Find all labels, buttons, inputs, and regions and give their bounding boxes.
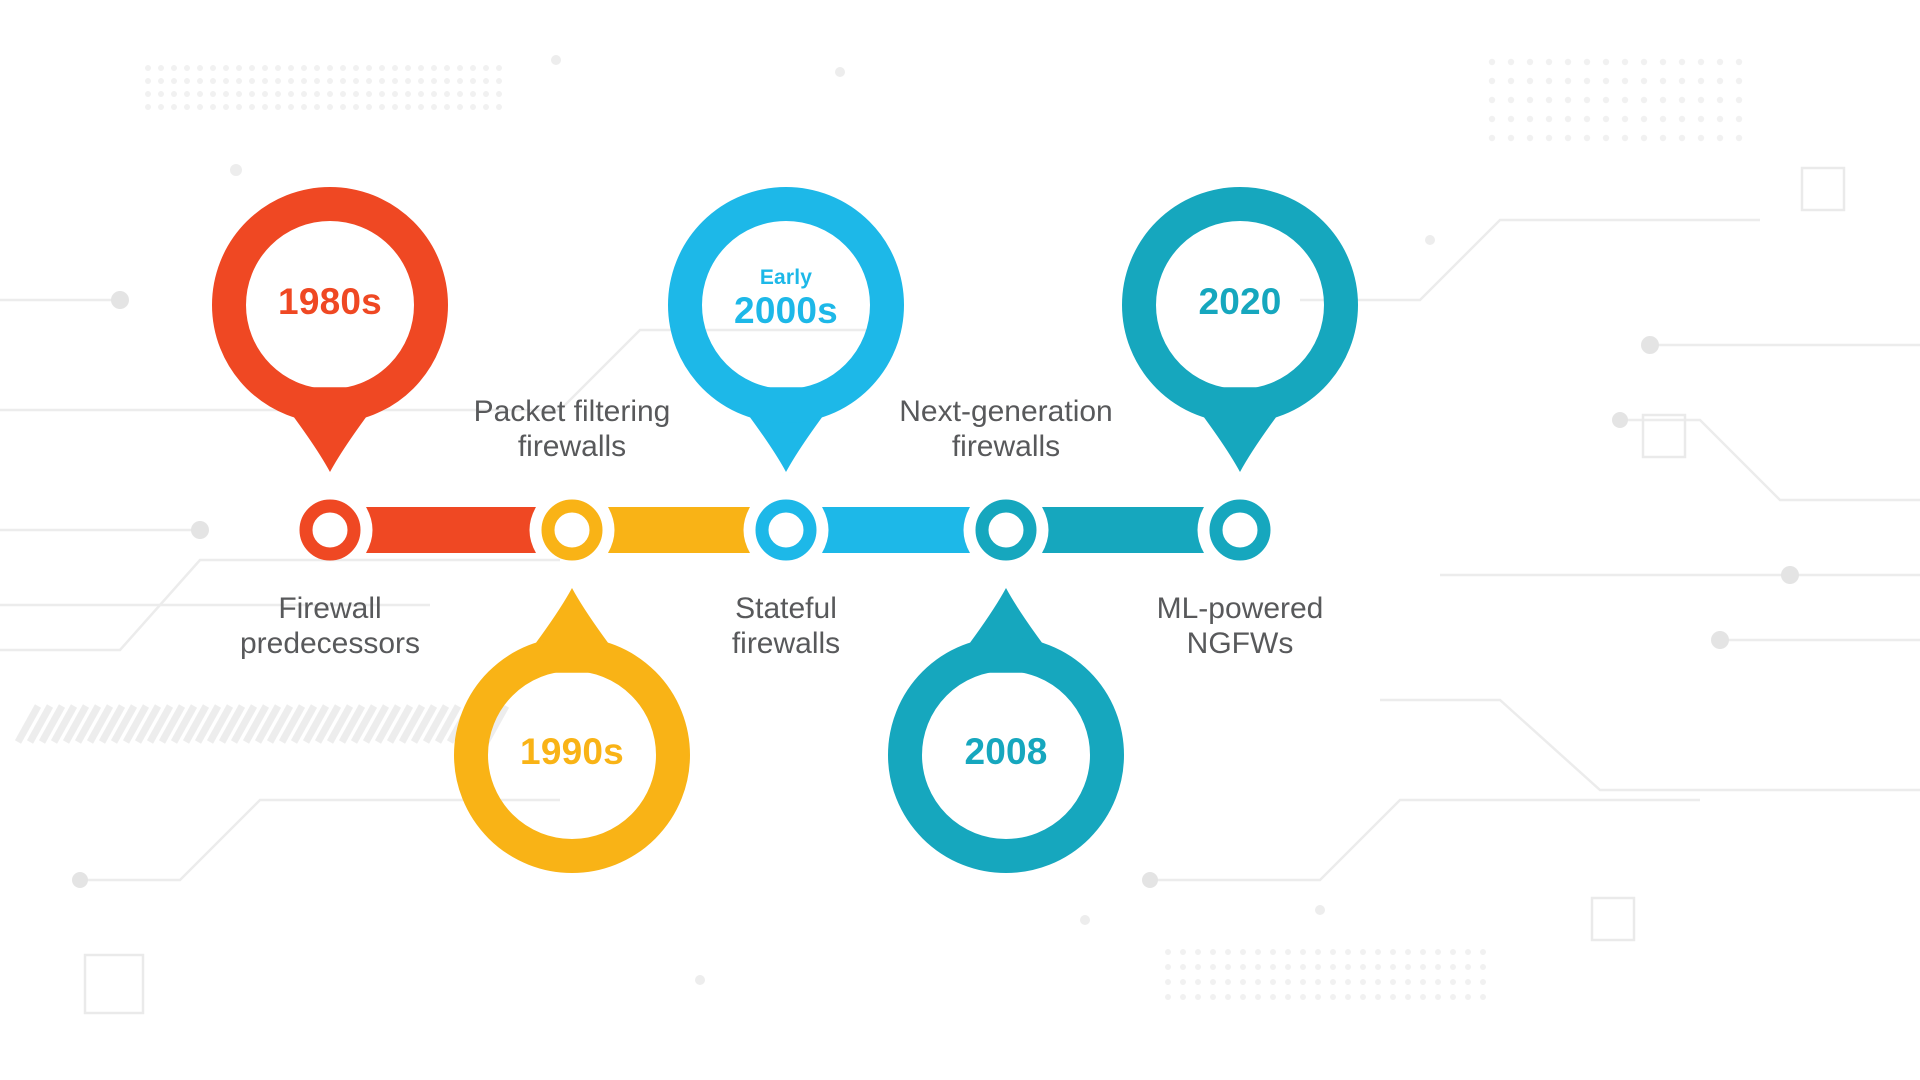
pin-ring <box>685 204 887 406</box>
timeline-node-ring[interactable] <box>548 506 596 554</box>
infographic-canvas: 1980s1990sEarly2000s20082020 Firewall pr… <box>0 0 1920 1080</box>
pin-ring <box>471 654 673 856</box>
milestone-pin[interactable]: Early2000s <box>663 182 909 428</box>
pin-ring <box>229 204 431 406</box>
pin-shape <box>449 632 695 964</box>
milestone-pin[interactable]: 1980s <box>207 182 453 428</box>
milestone-pin[interactable]: 1990s <box>449 632 695 878</box>
pin-shape <box>207 182 453 514</box>
timeline-node-ring[interactable] <box>982 506 1030 554</box>
pin-ring <box>905 654 1107 856</box>
pin-shape <box>883 632 1129 964</box>
pin-ring <box>1139 204 1341 406</box>
milestone-pin[interactable]: 2008 <box>883 632 1129 878</box>
pin-shape <box>1117 182 1363 514</box>
milestone-pin[interactable]: 2020 <box>1117 182 1363 428</box>
pin-shape <box>663 182 909 514</box>
